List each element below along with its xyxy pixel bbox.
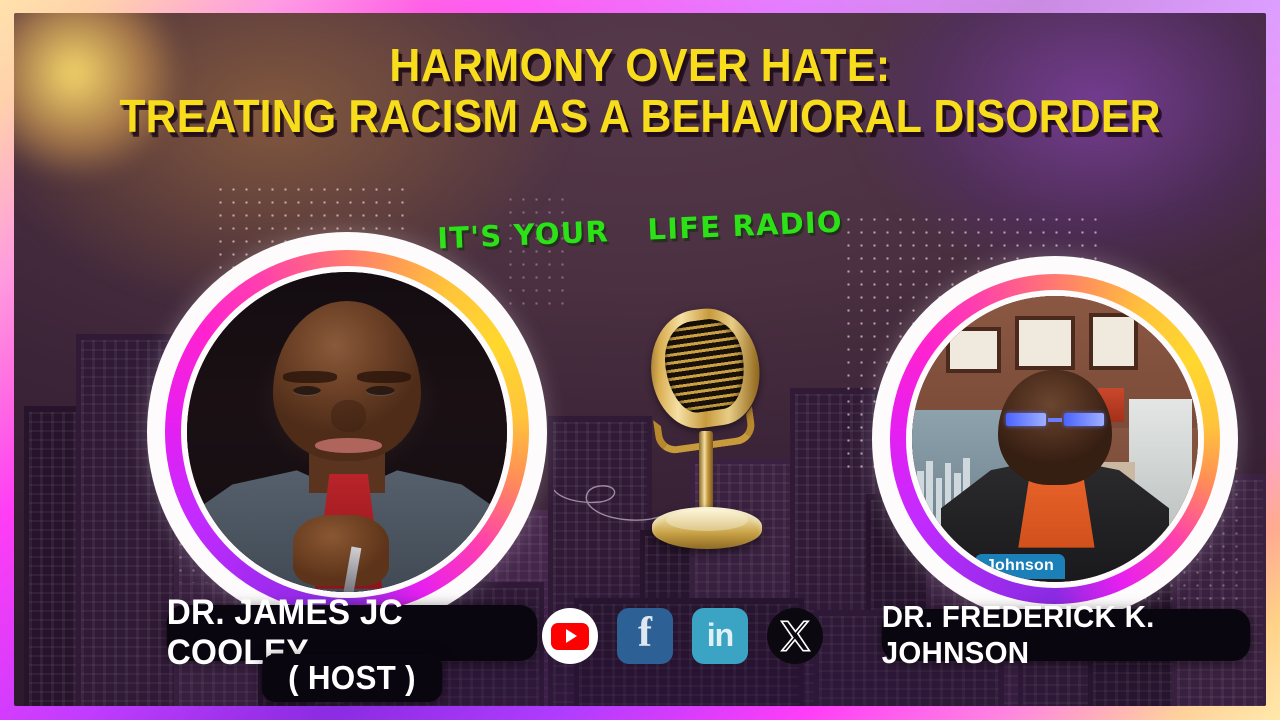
- youtube-icon[interactable]: [542, 608, 598, 664]
- facebook-glyph: f: [638, 612, 652, 654]
- show-name-spacer: [621, 240, 637, 241]
- title-line-1: HARMONY OVER HATE:: [58, 43, 1222, 88]
- avatar-james-jc-cooley: [147, 232, 547, 632]
- dot-grid-center: [504, 193, 574, 313]
- social-links-row: f in: [542, 608, 823, 664]
- avatar-frederick-k-johnson: Johnson: [872, 256, 1238, 622]
- linkedin-glyph: in: [707, 617, 733, 654]
- avatar-photo-cooley: [187, 272, 507, 592]
- linkedin-icon[interactable]: in: [692, 608, 748, 664]
- episode-title: HARMONY OVER HATE: TREATING RACISM AS A …: [58, 43, 1222, 139]
- nameplate-johnson: DR. FREDERICK K. JOHNSON: [882, 609, 1251, 661]
- nameplate-host-role: ( HOST ): [262, 654, 443, 702]
- nameplate-cooley: DR. JAMES JC COOLEY: [167, 605, 538, 661]
- x-glyph: [777, 618, 813, 654]
- title-line-2: TREATING RACISM AS A BEHAVIORAL DISORDER: [58, 94, 1222, 139]
- x-twitter-icon[interactable]: [767, 608, 823, 664]
- guest-name-right: DR. FREDERICK K. JOHNSON: [882, 599, 1251, 671]
- video-name-label: Johnson: [975, 554, 1065, 579]
- show-name-part-1: IT'S YOUR: [437, 214, 610, 255]
- facebook-icon[interactable]: f: [617, 608, 673, 664]
- thumbnail-canvas: HARMONY OVER HATE: TREATING RACISM AS A …: [14, 13, 1266, 706]
- avatar-photo-johnson: Johnson: [912, 296, 1198, 582]
- episode-thumbnail: HARMONY OVER HATE: TREATING RACISM AS A …: [0, 0, 1280, 720]
- vintage-gold-microphone-icon: [627, 309, 787, 554]
- guest-role-left: ( HOST ): [288, 659, 416, 697]
